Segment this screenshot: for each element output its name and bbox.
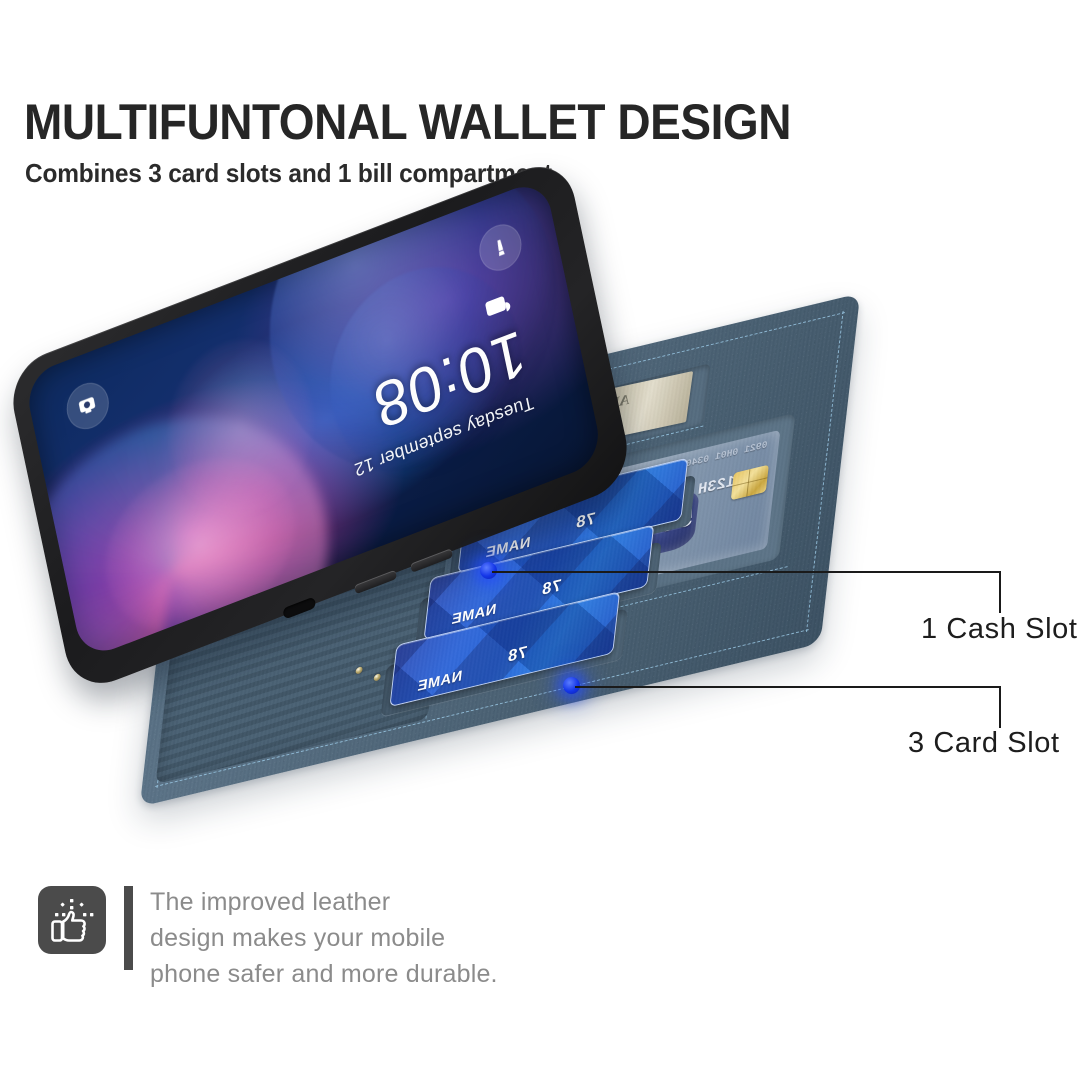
window-card-number: 5678	[623, 503, 695, 549]
card-name-text: NAME	[450, 601, 497, 628]
cash-slot-leader-horizontal	[492, 571, 1000, 573]
cash-slot-leader-vertical	[999, 571, 1001, 613]
feature-description: The improved leather design makes your m…	[150, 884, 570, 992]
window-card-issuer: 123H	[697, 472, 736, 498]
window-card-expiry: 10/00	[558, 530, 607, 559]
card-number-text: 78	[541, 576, 563, 600]
window-card-top-line: 0921 0H01 0340	[685, 440, 768, 470]
window-card-valid-label: VALID THRU	[602, 514, 633, 537]
flashlight-quick-action[interactable]	[475, 218, 525, 277]
card-facet-pattern	[389, 591, 620, 707]
card-number-text: 78	[575, 509, 597, 533]
camera-quick-action[interactable]	[63, 376, 113, 435]
product-photo: E1 AB 0921 0H01 0340 5678 123H 10/00 VAL…	[0, 250, 960, 830]
card-slot-2: 78 NAME	[415, 541, 662, 649]
feature-line-3: phone safer and more durable.	[150, 956, 570, 992]
page-subtitle: Combines 3 card slots and 1 bill compart…	[25, 158, 552, 188]
page-title: MULTIFUNTONAL WALLET DESIGN	[24, 96, 791, 148]
rivet-stud	[373, 673, 381, 681]
feature-line-1: The improved leather	[150, 884, 570, 920]
feature-icon-tile	[38, 886, 106, 954]
window-card-chip	[731, 465, 769, 501]
stitch-outer-right	[806, 311, 844, 632]
card-name-text: NAME	[485, 534, 532, 561]
poster-canvas: MULTIFUNTONAL WALLET DESIGN Combines 3 c…	[0, 0, 1080, 1080]
card-slot-leader-horizontal	[575, 686, 1000, 688]
thumbs-up-sparkle-icon	[38, 886, 106, 954]
card-1: 78 NAME	[389, 591, 620, 707]
card-slot-1: 78 NAME	[381, 608, 628, 716]
camera-icon	[77, 393, 99, 419]
callout-label-cash-slot: 1 Cash Slot	[921, 613, 1078, 646]
stitch-window-slot	[519, 566, 787, 631]
rivet-stud	[355, 666, 363, 674]
feature-line-2: design makes your mobile	[150, 920, 570, 956]
callout-label-card-slot: 3 Card Slot	[908, 727, 1060, 760]
window-card-hologram	[606, 487, 700, 566]
card-slot-leader-vertical	[999, 686, 1001, 728]
flashlight-icon	[490, 235, 511, 259]
card-number-text: 78	[507, 643, 529, 667]
card-name-text: NAME	[416, 668, 463, 695]
stitch-outer-bottom	[155, 629, 809, 787]
feature-divider	[124, 886, 133, 970]
rivet-stud	[392, 680, 400, 688]
